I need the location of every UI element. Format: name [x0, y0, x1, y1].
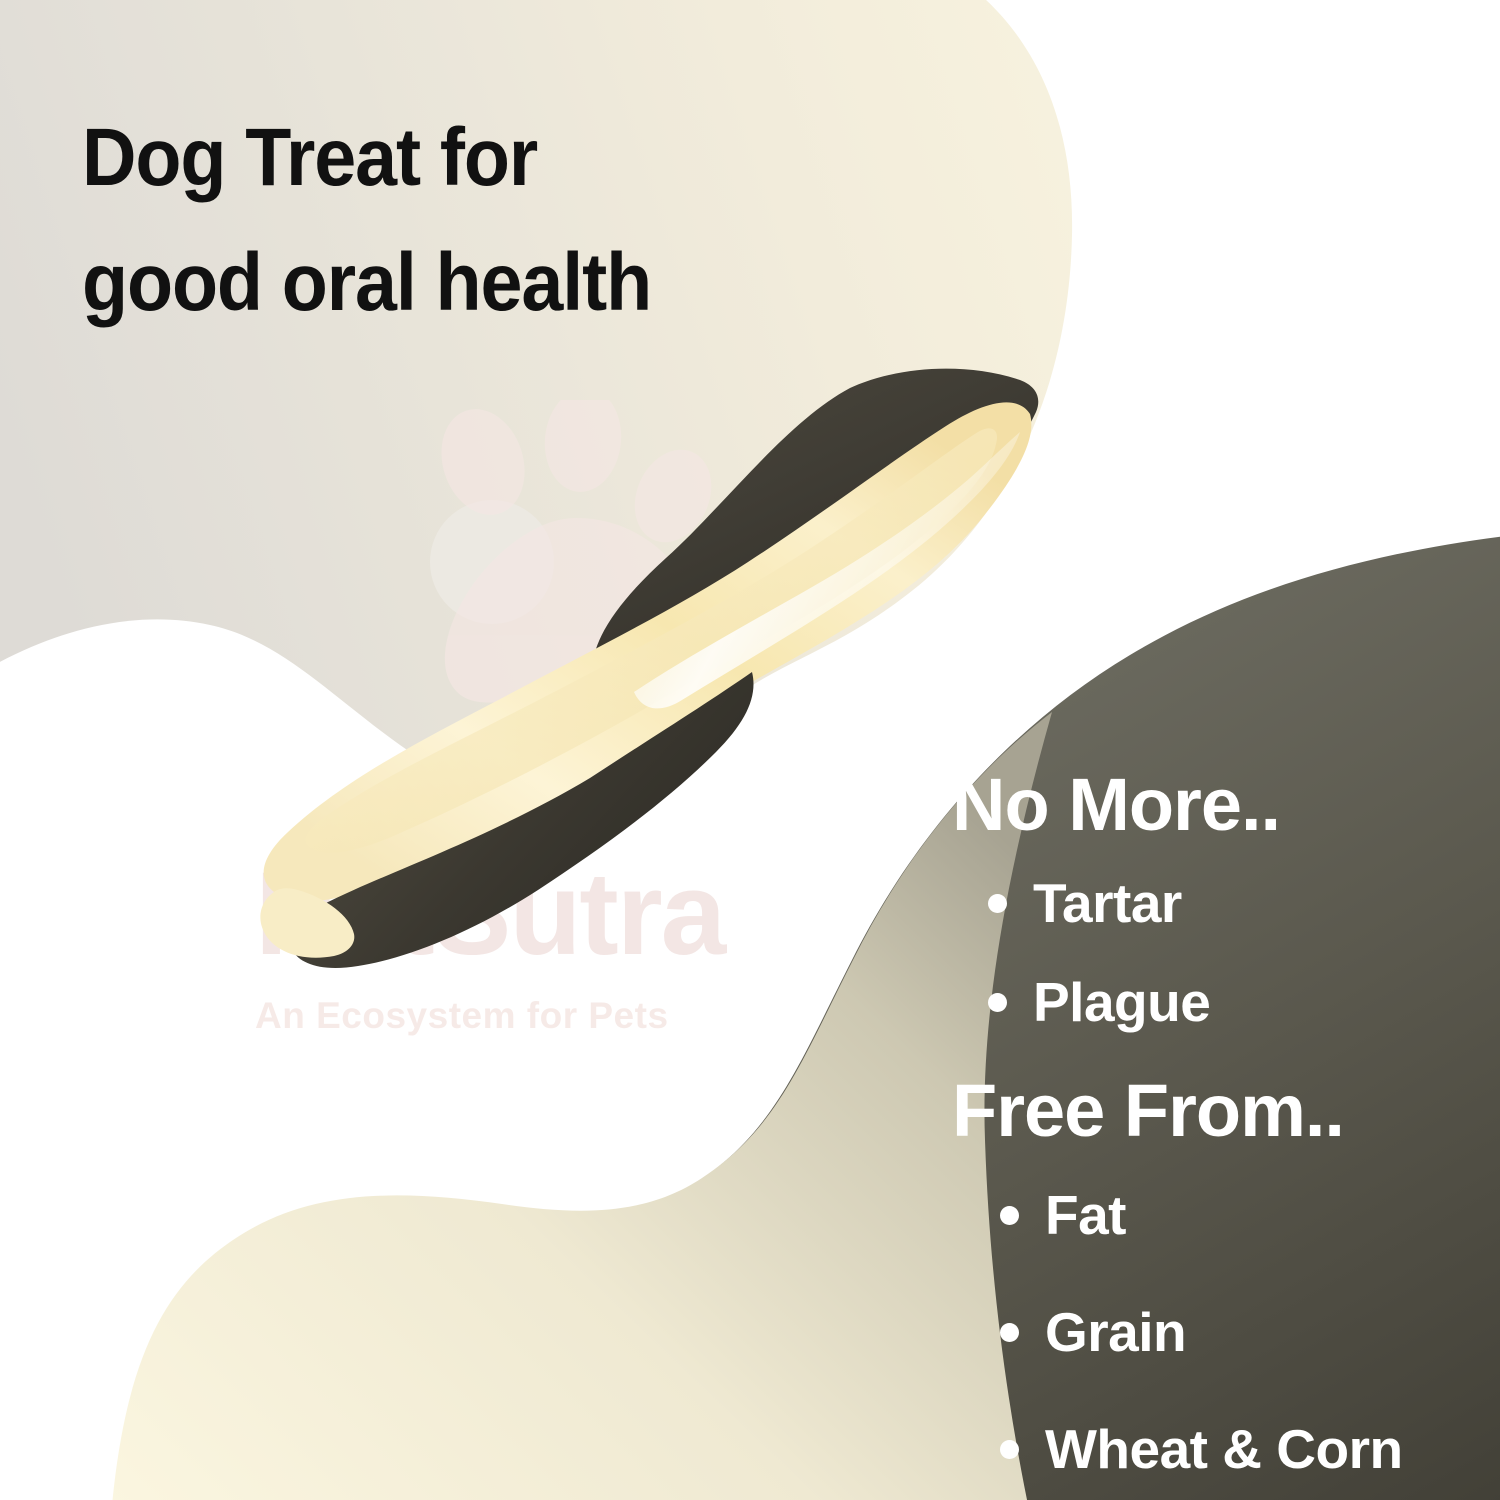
- bullet-dot-icon: [988, 993, 1007, 1012]
- list-item: Tartar: [988, 876, 1500, 931]
- benefits-panel: No More.. Tartar Plague Free From.. Fat: [952, 768, 1500, 1477]
- benefit-label: Fat: [1045, 1188, 1126, 1243]
- list-item: Fat: [1000, 1188, 1500, 1243]
- bullet-dot-icon: [1000, 1323, 1019, 1342]
- benefit-group-free-from: Free From.. Fat Grain Wheat & Corn: [952, 1074, 1500, 1477]
- page-title: Dog Treat for good oral health: [82, 96, 782, 345]
- decor-circle: [430, 500, 554, 624]
- benefit-group-heading-no-more: No More..: [952, 768, 1500, 842]
- list-item: Wheat & Corn: [1000, 1422, 1500, 1477]
- benefit-label: Grain: [1045, 1305, 1186, 1360]
- bullet-dot-icon: [1000, 1206, 1019, 1225]
- benefit-label: Wheat & Corn: [1045, 1422, 1403, 1477]
- headline-line-2: good oral health: [82, 221, 726, 346]
- benefit-list-free-from: Fat Grain Wheat & Corn: [952, 1188, 1500, 1477]
- cream-blob: [108, 712, 1052, 1500]
- benefit-group-heading-free-from: Free From..: [952, 1074, 1500, 1148]
- list-item: Grain: [1000, 1305, 1500, 1360]
- benefit-group-no-more: No More.. Tartar Plague: [952, 768, 1500, 1030]
- benefit-label: Plague: [1033, 975, 1210, 1030]
- list-item: Plague: [988, 975, 1500, 1030]
- benefit-label: Tartar: [1033, 876, 1182, 931]
- benefit-list-no-more: Tartar Plague: [952, 876, 1500, 1030]
- bullet-dot-icon: [1000, 1440, 1019, 1459]
- bullet-dot-icon: [988, 894, 1007, 913]
- product-banner: PetSutra An Ecosystem for Pets: [0, 0, 1500, 1500]
- headline-line-1: Dog Treat for: [82, 96, 726, 221]
